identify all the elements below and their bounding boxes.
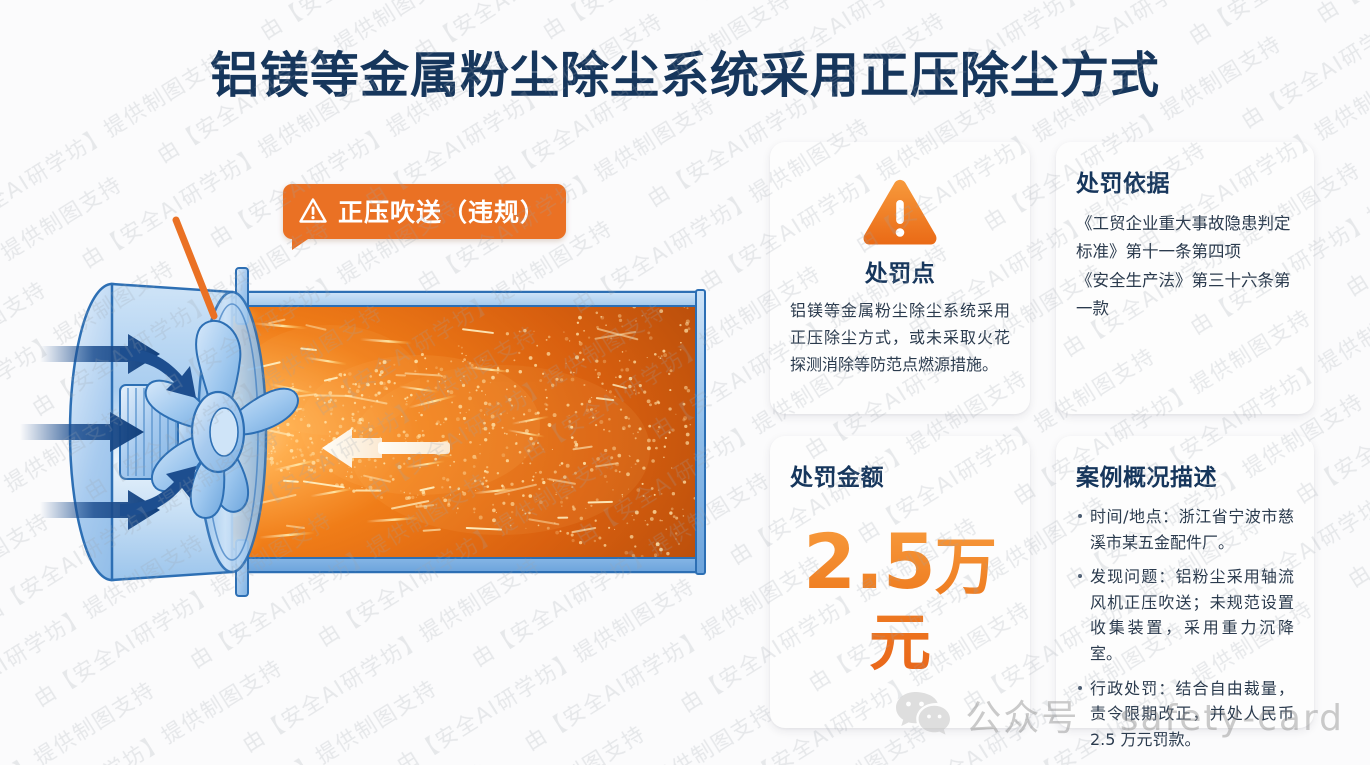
page-title: 铝镁等金属粉尘除尘系统采用正压除尘方式 [0,36,1370,107]
wechat-label: 公众号 · safety-card [965,689,1344,741]
penalty-amount-value: 2.5万元 [790,524,1010,676]
card-heading: 处罚依据 [1076,164,1294,198]
amount-number: 2.5 [803,517,935,606]
basis-line-2: 《安全生产法》第三十六条第一款 [1076,267,1294,322]
warning-triangle-icon [861,178,939,248]
card-heading: 案例概况描述 [1076,458,1294,492]
wechat-credit: 公众号 · safety-card [895,689,1344,741]
wechat-icon [895,690,951,741]
poster-page: 由【安全AI研学坊】提供制图支持 由【安全AI研学坊】提供制图支持 由【安全AI… [0,0,1370,765]
card-penalty-amount: 处罚金额 2.5万元 [770,436,1030,728]
list-item: 发现问题：铝粉尘采用轴流风机正压吹送；未规范设置收集装置，采用重力沉降室。 [1076,564,1294,666]
list-item: 时间/地点：浙江省宁波市慈溪市某五金配件厂。 [1076,504,1294,555]
basis-line-1: 《工贸企业重大事故隐患判定标准》第十一条第四项 [1076,210,1294,265]
card-heading: 处罚金额 [790,458,1010,492]
card-body-text: 铝镁等金属粉尘除尘系统采用正压除尘方式，或未采取火花探测消除等防范点燃源措施。 [790,298,1010,379]
card-heading: 处罚点 [790,254,1010,288]
violation-badge: 正压吹送（违规） [283,184,566,239]
violation-badge-label: 正压吹送（违规） [338,193,546,229]
card-penalty-point: 处罚点 铝镁等金属粉尘除尘系统采用正压除尘方式，或未采取火花探测消除等防范点燃源… [770,142,1030,414]
card-case-summary: 案例概况描述 时间/地点：浙江省宁波市慈溪市某五金配件厂。 发现问题：铝粉尘采用… [1056,436,1314,728]
warning-triangle-icon [299,198,327,224]
card-penalty-basis: 处罚依据 《工贸企业重大事故隐患判定标准》第十一条第四项 《安全生产法》第三十六… [1056,142,1314,414]
